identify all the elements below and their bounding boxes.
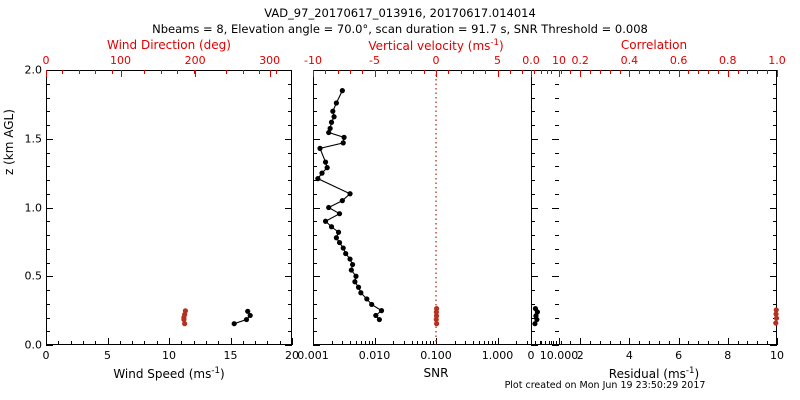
x-axis-minor-tick [267,341,268,345]
x-axis-label: Residual (ms-1) [531,366,777,381]
x-axis-minor-tick [365,341,366,345]
top-axis-tick [375,70,376,77]
top-axis-label: Correlation [531,38,777,52]
y-axis-tick [555,125,559,126]
y-axis-tick-label: 0.0 [2,339,42,352]
top-axis-tick [436,70,437,77]
top-axis-tick [629,70,630,77]
snr-panel [313,70,559,345]
y-axis-tick [46,345,53,346]
x-axis-minor-tick [484,341,485,345]
x-axis-tick [498,338,499,345]
top-axis-minor-tick [600,70,601,74]
top-axis-tick-label: 100 [110,54,131,67]
y-axis-tick [46,111,50,112]
x-axis-minor-tick [280,341,281,345]
y-axis-tick [531,166,535,167]
top-axis-minor-tick [448,70,449,74]
y-axis-tick [46,125,50,126]
plot-timestamp: Plot created on Mon Jun 19 23:50:29 2017 [430,380,780,391]
y-axis-tick [552,139,559,140]
y-axis-tick [555,290,559,291]
top-axis-minor-tick [688,70,689,74]
top-axis-minor-tick [747,70,748,74]
x-axis-tick [679,338,680,345]
x-axis-minor-tick [426,341,427,345]
top-axis-minor-tick [561,70,562,74]
top-axis-minor-tick [669,70,670,74]
scan-parameters-subtitle: Nbeams = 8, Elevation angle = 70.0°, sca… [0,22,800,36]
y-axis-tick [531,290,535,291]
x-axis-tick-label: 4 [626,349,633,362]
y-axis-tick [288,290,292,291]
top-axis-minor-tick [698,70,699,74]
top-axis-minor-tick [424,70,425,74]
top-axis-minor-tick [718,70,719,74]
top-axis-tick-label: 1.0 [768,54,786,67]
top-axis-tick-label: 300 [259,54,280,67]
top-axis-label: Wind Direction (deg) [46,38,292,52]
x-axis-minor-tick [649,341,650,345]
y-axis-tick [288,235,292,236]
top-axis-tick [531,70,532,77]
y-axis-tick [313,194,317,195]
y-axis-tick [531,194,535,195]
top-axis-tick [679,70,680,77]
y-axis-tick [773,153,777,154]
x-axis-minor-tick [473,341,474,345]
x-axis-tick-label: 0 [43,349,50,362]
y-axis-tick [555,194,559,195]
x-axis-tick-label: 0.001 [297,349,329,362]
y-axis-tick [531,263,535,264]
y-axis-tick-label: 1.5 [2,132,42,145]
top-axis-minor-tick [757,70,758,74]
y-axis-tick [46,331,50,332]
y-axis-tick [531,276,538,277]
x-axis-tick-label: 10 [162,349,176,362]
x-axis-minor-tick [527,341,528,345]
x-axis-minor-tick [492,341,493,345]
y-axis-tick [770,276,777,277]
top-axis-tick [270,70,271,77]
x-axis-tick [531,338,532,345]
top-axis-tick-label: 10 [552,54,566,67]
y-axis-tick [288,304,292,305]
x-axis-minor-tick [556,341,557,345]
x-axis-tick-label: 1.000 [482,349,514,362]
y-axis-tick [313,249,317,250]
y-axis-tick [288,166,292,167]
x-axis-minor-tick [218,341,219,345]
x-axis-minor-tick [243,341,244,345]
x-axis-minor-tick [181,341,182,345]
y-axis-tick [555,235,559,236]
y-axis-tick [770,208,777,209]
top-axis-tick [580,70,581,77]
x-axis-minor-tick [553,341,554,345]
y-axis-tick [531,318,535,319]
top-axis-minor-tick [522,70,523,74]
x-axis-minor-tick [412,341,413,345]
x-axis-tick-label: 2 [577,349,584,362]
y-axis-tick [46,235,50,236]
y-axis-tick [46,153,50,154]
top-axis-tick-label: -10 [304,54,322,67]
y-axis-tick [288,98,292,99]
top-axis-minor-tick [541,70,542,74]
top-axis-minor-tick [325,70,326,74]
y-axis-tick [773,290,777,291]
y-axis-tick [555,249,559,250]
y-axis-tick [313,276,320,277]
x-axis-tick [46,338,47,345]
top-axis-minor-tick [276,70,277,74]
x-axis-minor-tick [417,341,418,345]
y-axis-tick [773,194,777,195]
x-axis-minor-tick [708,341,709,345]
top-axis-tick [121,70,122,77]
y-axis-tick [288,84,292,85]
top-axis-minor-tick [659,70,660,74]
y-axis-tick [46,263,50,264]
top-axis-minor-tick [161,70,162,74]
x-axis-minor-tick [488,341,489,345]
x-axis-minor-tick [422,341,423,345]
y-axis-tick [313,125,317,126]
y-axis-tick [555,304,559,305]
x-axis-minor-tick [404,341,405,345]
y-axis-tick [46,166,50,167]
x-axis-minor-tick [495,341,496,345]
top-axis-minor-tick [95,70,96,74]
top-axis-tick [46,70,47,77]
y-axis-tick [773,180,777,181]
top-axis-minor-tick [387,70,388,74]
y-axis-tick [46,290,50,291]
x-axis-tick [777,338,778,345]
top-axis-label: Vertical velocity (ms-1) [313,38,559,53]
top-axis-minor-tick [144,70,145,74]
y-axis-tick [313,111,317,112]
y-axis-tick [773,84,777,85]
x-axis-tick-label: 0.100 [420,349,452,362]
y-axis-tick [46,98,50,99]
x-axis-tick-label: 5 [104,349,111,362]
y-axis-tick [313,153,317,154]
top-axis-minor-tick [226,70,227,74]
top-axis-tick-label: 0.6 [670,54,688,67]
x-axis-minor-tick [600,341,601,345]
top-axis-minor-tick [510,70,511,74]
y-axis-tick [46,139,53,140]
top-axis-minor-tick [639,70,640,74]
x-axis-minor-tick [698,341,699,345]
y-axis-tick [313,235,317,236]
y-axis-tick [773,318,777,319]
y-axis-tick [531,221,535,222]
y-axis-tick [46,194,50,195]
y-axis-tick [46,208,53,209]
top-axis-tick-label: 5 [494,54,501,67]
y-axis-tick [531,304,535,305]
top-axis-tick-label: 200 [185,54,206,67]
y-axis-tick [555,180,559,181]
y-axis-tick [555,221,559,222]
y-axis-tick [313,304,317,305]
top-axis-minor-tick [112,70,113,74]
y-axis-tick [531,111,535,112]
x-axis-tick [375,338,376,345]
y-axis-tick [288,111,292,112]
x-axis-minor-tick [757,341,758,345]
x-axis-minor-tick [58,341,59,345]
x-axis-minor-tick [570,341,571,345]
top-axis-minor-tick [473,70,474,74]
y-axis-tick [313,290,317,291]
x-axis-tick-label: 8 [724,349,731,362]
top-axis-tick-label: -5 [369,54,380,67]
x-axis-tick [169,338,170,345]
y-axis-tick-label: 1.0 [2,201,42,214]
y-axis-tick [313,221,317,222]
x-axis-tick-label: 15 [224,349,238,362]
x-axis-minor-tick [157,341,158,345]
x-axis-minor-tick [541,341,542,345]
y-axis-tick [288,180,292,181]
y-axis-tick [531,153,535,154]
top-axis-minor-tick [243,70,244,74]
y-axis-tick [531,208,538,209]
top-axis-tick-label: 0.8 [719,54,737,67]
x-axis-minor-tick [545,341,546,345]
y-axis-tick [773,111,777,112]
x-axis-minor-tick [433,341,434,345]
x-axis-minor-tick [194,341,195,345]
x-axis-minor-tick [639,341,640,345]
x-axis-minor-tick [132,341,133,345]
x-axis-tick [108,338,109,345]
top-axis-minor-tick [485,70,486,74]
top-axis-minor-tick [620,70,621,74]
y-axis-tick [288,331,292,332]
y-axis-tick [285,208,292,209]
y-axis-tick [313,98,317,99]
x-axis-minor-tick [120,341,121,345]
top-axis-minor-tick [62,70,63,74]
x-axis-minor-tick [206,341,207,345]
x-axis-minor-tick [95,341,96,345]
y-axis-tick [773,249,777,250]
x-axis-minor-tick [516,341,517,345]
y-axis-tick [285,139,292,140]
top-axis-tick [498,70,499,77]
x-axis-minor-tick [356,341,357,345]
y-axis-tick [773,331,777,332]
x-axis-minor-tick [767,341,768,345]
y-axis-tick [555,331,559,332]
x-axis-tick [436,338,437,345]
y-axis-tick [531,331,535,332]
y-axis-tick [531,98,535,99]
top-axis-minor-tick [570,70,571,74]
y-axis-tick [46,180,50,181]
y-axis-tick [555,166,559,167]
y-axis-tick [555,263,559,264]
top-axis-minor-tick [551,70,552,74]
top-axis-tick [777,70,778,77]
y-axis-tick [288,249,292,250]
top-axis-minor-tick [259,70,260,74]
x-axis-minor-tick [144,341,145,345]
top-axis-minor-tick [79,70,80,74]
x-axis-label: SNR [313,366,559,380]
y-axis-tick [313,318,317,319]
top-axis-tick-label: 0.2 [571,54,589,67]
top-axis-minor-tick [399,70,400,74]
y-axis-tick [313,166,317,167]
x-axis-minor-tick [738,341,739,345]
top-axis-minor-tick [649,70,650,74]
x-axis-minor-tick [590,341,591,345]
y-axis-tick [46,318,50,319]
top-axis-tick-label: 0.4 [621,54,639,67]
x-axis-minor-tick [332,341,333,345]
y-axis-tick [531,139,538,140]
x-axis-tick [580,338,581,345]
y-axis-tick [288,125,292,126]
y-axis-tick [46,84,50,85]
y-axis-tick [773,263,777,264]
x-axis-minor-tick [551,341,552,345]
top-axis-minor-tick [738,70,739,74]
top-axis-minor-tick [547,70,548,74]
x-axis-tick-label: 10.000 [540,349,579,362]
y-axis-tick [555,111,559,112]
y-axis-tick-label: 0.5 [2,270,42,283]
y-axis-tick [773,221,777,222]
x-axis-minor-tick [350,341,351,345]
x-axis-minor-tick [255,341,256,345]
y-axis-tick [552,70,559,71]
y-axis-tick [285,345,292,346]
y-axis-tick [313,84,317,85]
top-axis-minor-tick [194,70,195,74]
top-axis-minor-tick [362,70,363,74]
x-axis-tick-label: 6 [675,349,682,362]
top-axis-minor-tick [767,70,768,74]
x-axis-minor-tick [718,341,719,345]
page-title: VAD_97_20170617_013916, 20170617.014014 [0,6,800,20]
x-axis-minor-tick [610,341,611,345]
y-axis-tick [555,318,559,319]
x-axis-minor-tick [747,341,748,345]
top-axis-tick-label: 0 [43,54,50,67]
y-axis-tick [313,139,320,140]
y-axis-tick [555,153,559,154]
vad-plot-figure: VAD_97_20170617_013916, 20170617.014014 … [0,0,800,400]
x-axis-minor-tick [71,341,72,345]
top-axis-minor-tick [461,70,462,74]
y-axis-tick [46,276,53,277]
y-axis-tick [770,70,777,71]
y-axis-tick [531,125,535,126]
x-axis-minor-tick [430,341,431,345]
x-axis-tick [292,338,293,345]
y-axis-tick [285,70,292,71]
top-axis-minor-tick [350,70,351,74]
top-axis-minor-tick [610,70,611,74]
y-axis-tick [531,180,535,181]
y-axis-tick [288,318,292,319]
y-axis-tick [288,221,292,222]
top-axis-tick [195,70,196,77]
x-axis-tick [313,338,314,345]
x-axis-minor-tick [659,341,660,345]
y-axis-tick [313,263,317,264]
y-axis-tick [555,84,559,85]
y-axis-tick [46,249,50,250]
x-axis-minor-tick [369,341,370,345]
top-axis-tick [313,70,314,77]
x-axis-label: Wind Speed (ms-1) [46,366,292,381]
y-axis-tick [313,331,317,332]
top-axis-tick-label: 0 [433,54,440,67]
y-axis-tick [773,125,777,126]
wind-panel [46,70,292,345]
x-axis-minor-tick [688,341,689,345]
y-axis-tick [552,276,559,277]
y-axis-tick [773,235,777,236]
y-axis-tick-label: 2.0 [2,64,42,77]
y-axis-tick [773,166,777,167]
y-axis-tick [770,345,777,346]
y-axis-tick [555,98,559,99]
y-axis-tick [531,345,538,346]
y-axis-tick [288,263,292,264]
top-axis-minor-tick [338,70,339,74]
x-axis-minor-tick [83,341,84,345]
x-axis-minor-tick [535,341,536,345]
x-axis-tick-label: 0.010 [359,349,391,362]
x-axis-minor-tick [479,341,480,345]
y-axis-tick [773,98,777,99]
y-axis-tick [288,153,292,154]
x-axis-minor-tick [455,341,456,345]
x-axis-minor-tick [561,341,562,345]
x-axis-minor-tick [669,341,670,345]
y-axis-tick [313,208,320,209]
residual-panel [531,70,777,345]
y-axis-tick [285,276,292,277]
top-axis-minor-tick [177,70,178,74]
y-axis-tick [313,70,320,71]
y-axis-tick [46,221,50,222]
y-axis-tick [46,304,50,305]
x-axis-tick [728,338,729,345]
top-axis-minor-tick [411,70,412,74]
x-axis-minor-tick [620,341,621,345]
y-axis-tick [313,180,317,181]
y-axis-tick [531,235,535,236]
x-axis-tick [231,338,232,345]
top-axis-tick-label: 0.0 [522,54,540,67]
top-axis-minor-tick [534,70,535,74]
y-axis-tick [288,194,292,195]
y-axis-tick [313,345,320,346]
top-axis-tick [728,70,729,77]
x-axis-tick-label: 10 [770,349,784,362]
